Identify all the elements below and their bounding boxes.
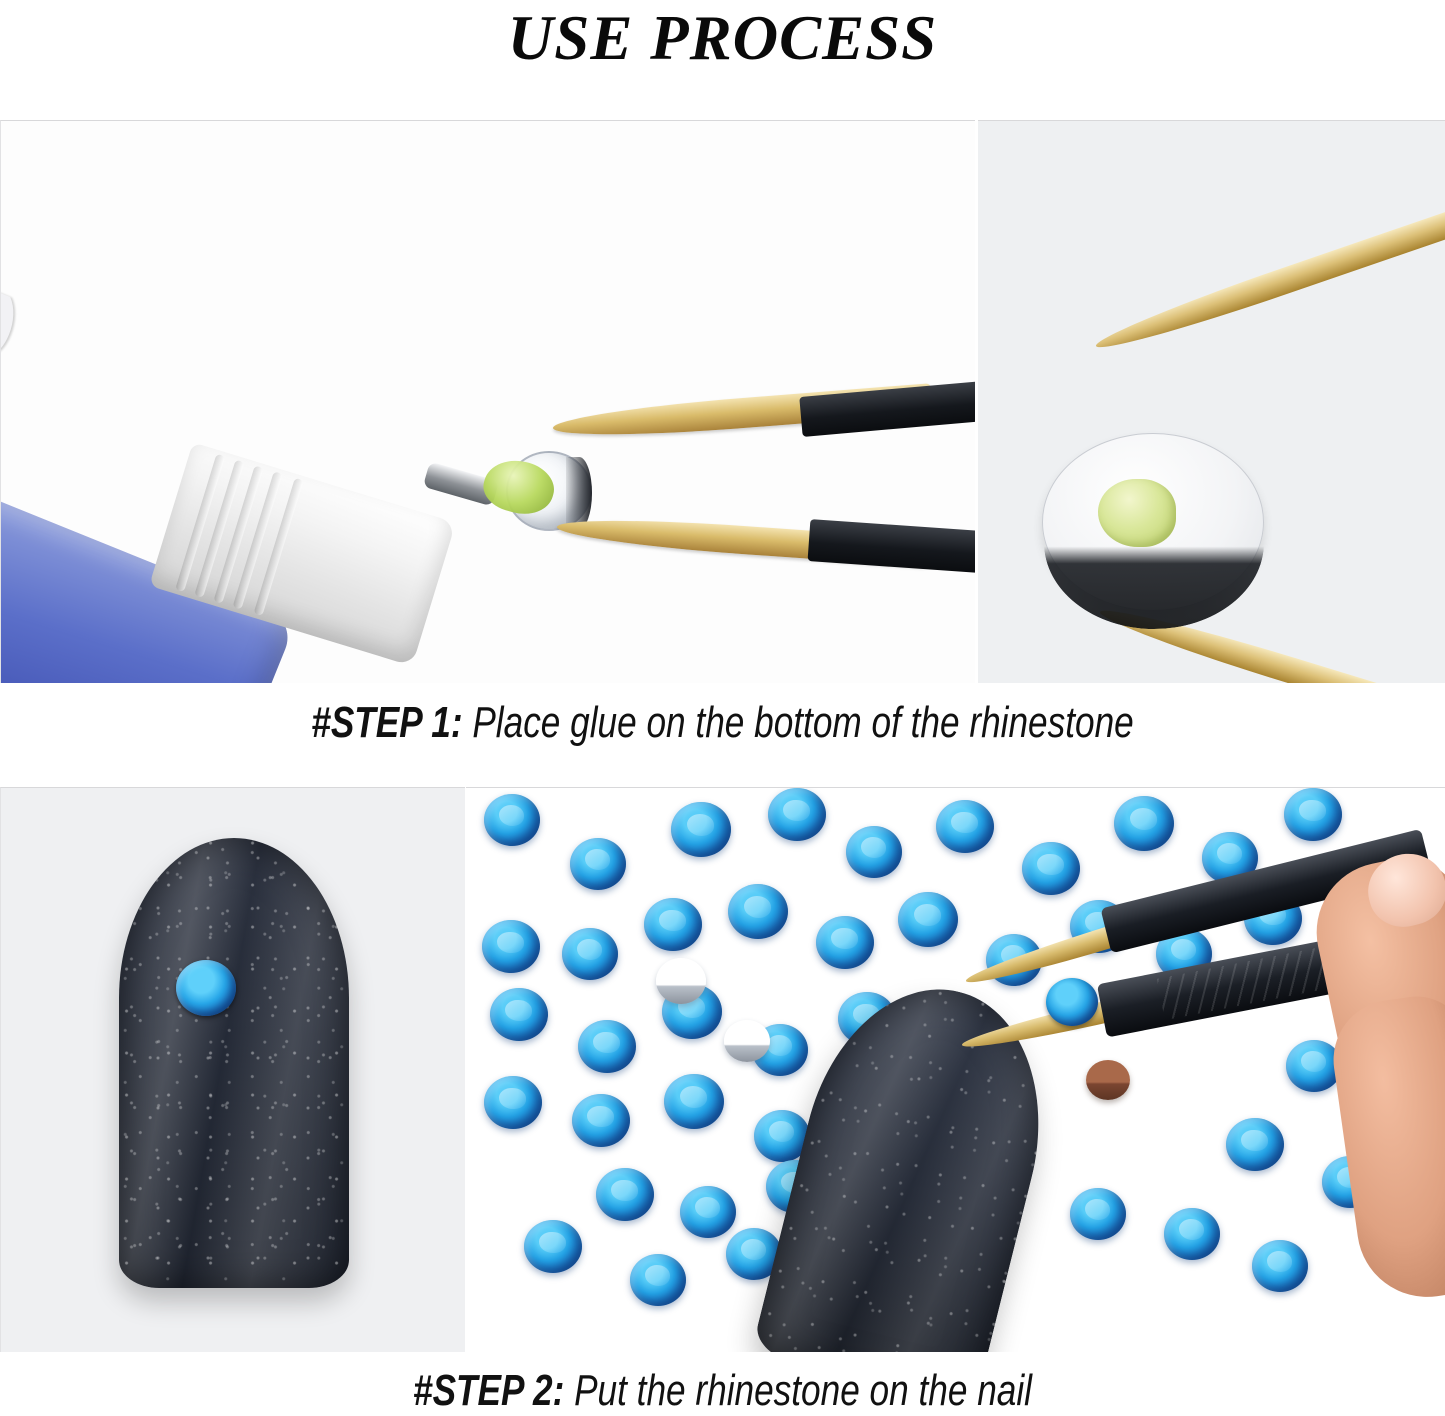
rhinestone — [1284, 788, 1342, 841]
rhinestone — [578, 1020, 636, 1073]
step-1-text: Place glue on the bottom of the rhinesto… — [463, 698, 1134, 747]
step-1-image-row: Rh G — [0, 120, 1445, 683]
step-2-text: Put the rhinestone on the nail — [564, 1366, 1032, 1415]
rhinestone-flat-back-copper — [1086, 1060, 1130, 1100]
rhinestone — [562, 928, 618, 980]
rhinestone-back-photo — [978, 120, 1445, 683]
rhinestone — [572, 1094, 630, 1147]
rhinestone-flat-back-white — [656, 958, 706, 1004]
tweezer-black-upper-handle — [799, 381, 975, 437]
press-on-nail — [119, 838, 349, 1288]
rhinestone — [1070, 1188, 1126, 1240]
page-title: USE PROCESS — [0, 0, 1445, 78]
rhinestone-pile-photo — [466, 787, 1445, 1352]
rhinestone — [484, 1076, 542, 1129]
rhinestone — [570, 838, 626, 890]
rhinestone — [936, 800, 994, 853]
rhinestone-in-tweezers — [1046, 978, 1098, 1026]
step-2-label: #STEP 2: — [413, 1366, 564, 1415]
tweezer-black-lower-handle — [808, 519, 975, 573]
step-2-image-row — [0, 787, 1445, 1352]
rhinestone — [664, 1074, 724, 1129]
rhinestone — [1022, 842, 1080, 895]
rhinestone — [680, 1186, 736, 1238]
rhinestone — [1226, 1118, 1284, 1171]
rhinestone — [630, 1254, 686, 1306]
step-1-caption: #STEP 1: Place glue on the bottom of the… — [145, 698, 1301, 748]
rhinestone — [596, 1168, 654, 1221]
rhinestone — [728, 884, 788, 939]
tweezer-gold-upper-tip — [1092, 203, 1445, 358]
rhinestone — [671, 802, 731, 857]
step-1-label: #STEP 1: — [311, 698, 462, 747]
rhinestone — [644, 898, 702, 951]
rhinestone — [1114, 796, 1174, 851]
finished-nail-photo — [0, 787, 465, 1352]
rhinestone — [768, 788, 826, 841]
rhinestone — [1252, 1240, 1308, 1292]
rhinestone — [490, 988, 548, 1041]
rhinestone — [898, 892, 958, 947]
rhinestone-flat-back-white — [724, 1020, 770, 1062]
applied-rhinestone — [176, 960, 236, 1016]
rhinestone — [484, 794, 540, 846]
index-finger — [1326, 990, 1445, 1306]
rhinestone — [1164, 1208, 1220, 1260]
green-glue-blob — [1098, 479, 1176, 547]
rhinestone — [816, 916, 874, 969]
step-2-caption: #STEP 2: Put the rhinestone on the nail — [145, 1366, 1301, 1416]
glue-applicator-photo: Rh G — [0, 120, 975, 683]
rhinestone — [846, 826, 902, 878]
rhinestone — [482, 920, 540, 973]
rhinestone — [524, 1220, 582, 1273]
